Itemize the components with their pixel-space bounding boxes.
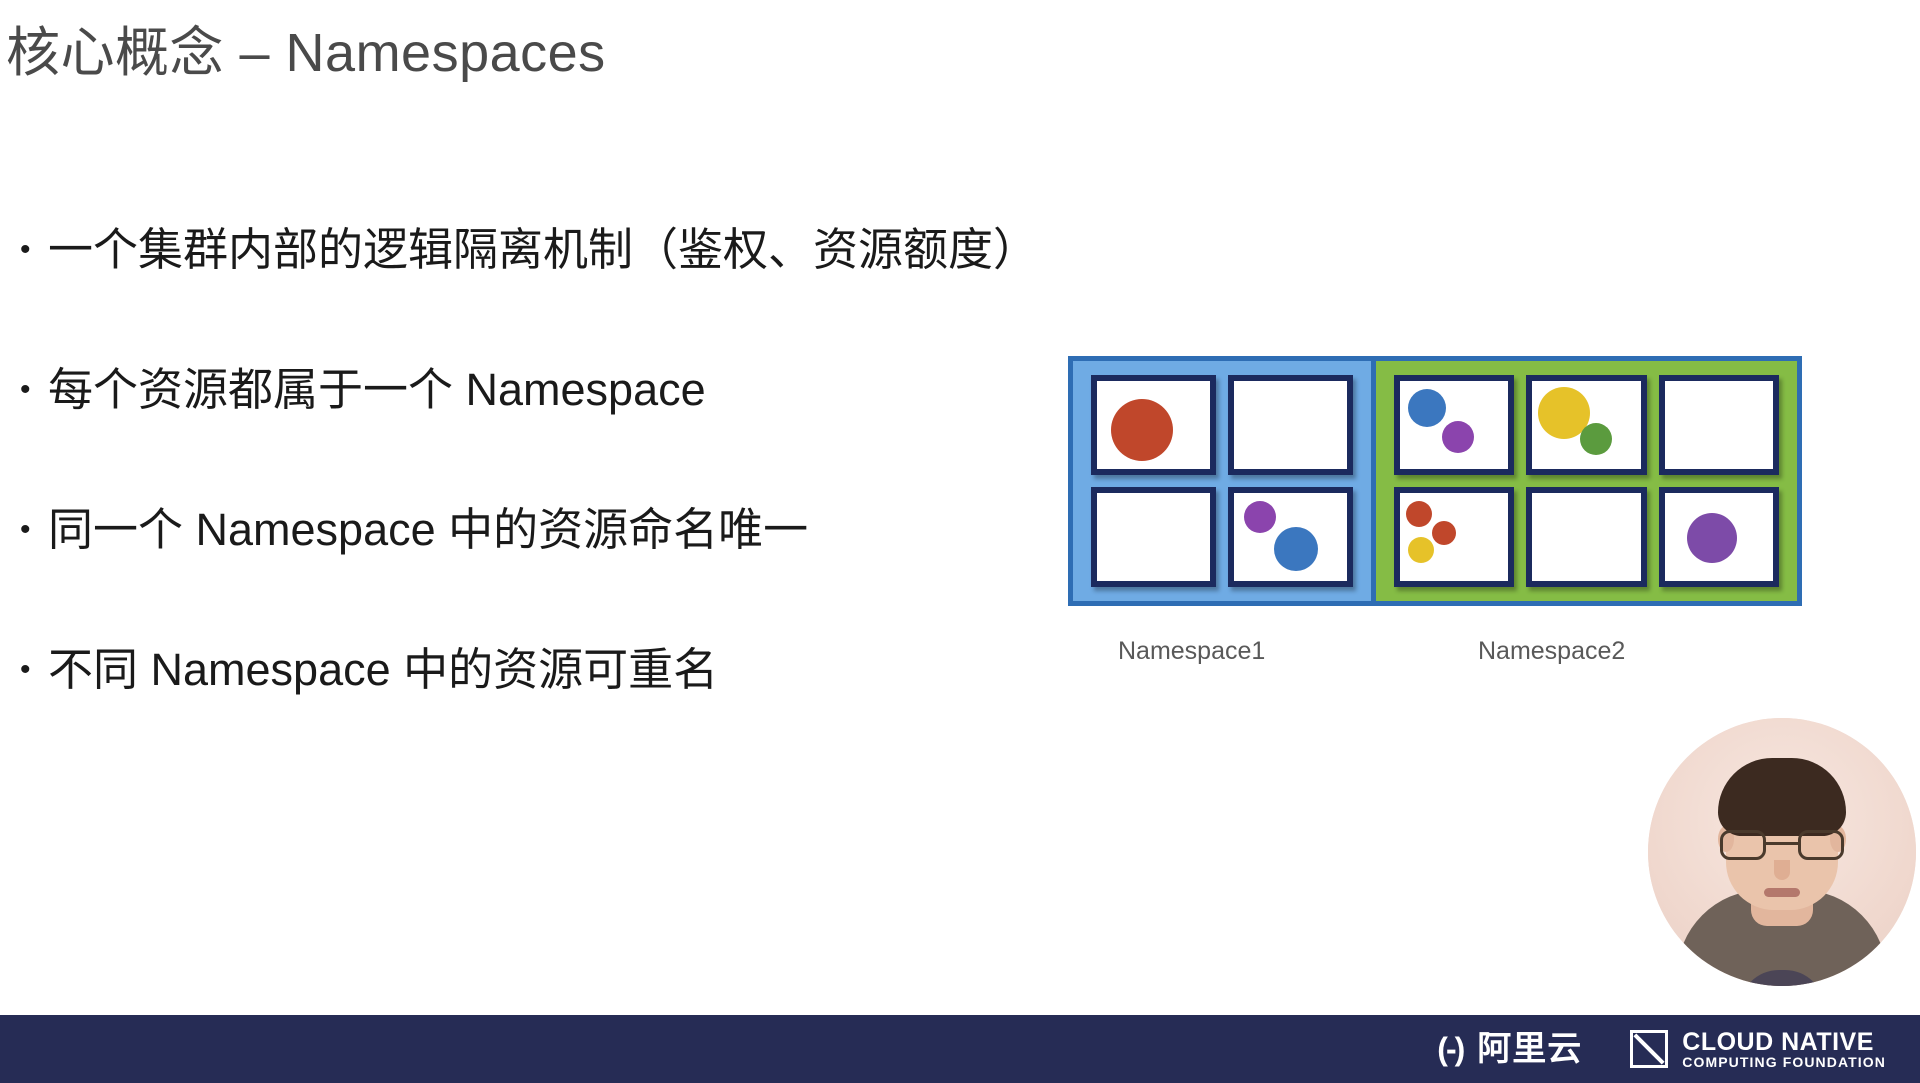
glasses-icon: [1720, 830, 1844, 860]
resource-dot: [1111, 399, 1173, 461]
cncf-logo: CLOUD NATIVE COMPUTING FOUNDATION: [1630, 1029, 1886, 1070]
namespace1-panel: [1073, 361, 1373, 601]
bullet-text: 一个集群内部的逻辑隔离机制（鉴权、资源额度）: [48, 225, 1038, 275]
namespace1-label: Namespace1: [1118, 637, 1265, 666]
bullet-text: 同一个 Namespace 中的资源命名唯一: [48, 505, 808, 555]
resource-dot: [1244, 501, 1276, 533]
presentation-slide: 核心概念 – Namespaces • 一个集群内部的逻辑隔离机制（鉴权、资源额…: [0, 0, 1920, 1083]
resource-dot: [1432, 521, 1456, 545]
list-item: • 不同 Namespace 中的资源可重名: [20, 645, 1060, 785]
cncf-title: CLOUD NATIVE: [1682, 1029, 1886, 1055]
namespace2-label: Namespace2: [1478, 637, 1625, 666]
cell-1-1: [1091, 375, 1216, 475]
cell-2-4: [1394, 487, 1514, 587]
presenter-shirt: [1739, 970, 1825, 986]
cncf-logo-text: CLOUD NATIVE COMPUTING FOUNDATION: [1682, 1029, 1886, 1070]
resource-dot: [1408, 389, 1446, 427]
bullet-marker: •: [20, 655, 48, 685]
resource-dot: [1442, 421, 1474, 453]
cncf-mark-icon: [1630, 1030, 1668, 1068]
cell-2-1: [1394, 375, 1514, 475]
cell-1-3: [1091, 487, 1216, 587]
presenter-nose: [1774, 860, 1790, 880]
presenter-brow-right: [1800, 820, 1834, 825]
resource-dot: [1580, 423, 1612, 455]
cell-2-5: [1526, 487, 1646, 587]
alibaba-cloud-logo: (-) 阿里云: [1437, 1032, 1582, 1066]
cncf-subtitle: COMPUTING FOUNDATION: [1682, 1055, 1886, 1070]
namespace2-panel: [1373, 361, 1797, 601]
list-item: • 一个集群内部的逻辑隔离机制（鉴权、资源额度）: [20, 225, 1060, 365]
list-item: • 同一个 Namespace 中的资源命名唯一: [20, 505, 1060, 645]
bullet-text: 每个资源都属于一个 Namespace: [48, 365, 706, 415]
presenter-mouth: [1764, 888, 1800, 897]
alibaba-logo-text: 阿里云: [1477, 1032, 1582, 1066]
list-item: • 每个资源都属于一个 Namespace: [20, 365, 1060, 505]
cell-2-6: [1659, 487, 1779, 587]
cell-2-2: [1526, 375, 1646, 475]
page-title: 核心概念 – Namespaces: [6, 8, 606, 87]
bullet-marker: •: [20, 515, 48, 545]
bullet-marker: •: [20, 235, 48, 265]
alibaba-mark-icon: (-): [1437, 1033, 1463, 1065]
resource-dot: [1408, 537, 1434, 563]
bullet-list: • 一个集群内部的逻辑隔离机制（鉴权、资源额度） • 每个资源都属于一个 Nam…: [20, 225, 1060, 785]
glasses-lens-left: [1720, 830, 1766, 860]
glasses-bridge: [1766, 842, 1798, 845]
cell-1-4: [1228, 487, 1353, 587]
bullet-marker: •: [20, 375, 48, 405]
presenter-video[interactable]: [1648, 718, 1916, 986]
resource-dot: [1274, 527, 1318, 571]
resource-dot: [1406, 501, 1432, 527]
glasses-lens-right: [1798, 830, 1844, 860]
footer-bar: (-) 阿里云 CLOUD NATIVE COMPUTING FOUNDATIO…: [0, 1015, 1920, 1083]
resource-dot: [1687, 513, 1737, 563]
presenter-brow-left: [1730, 820, 1764, 825]
cell-1-2: [1228, 375, 1353, 475]
namespace-diagram: [1068, 356, 1802, 606]
bullet-text: 不同 Namespace 中的资源可重名: [48, 645, 718, 695]
cell-2-3: [1659, 375, 1779, 475]
